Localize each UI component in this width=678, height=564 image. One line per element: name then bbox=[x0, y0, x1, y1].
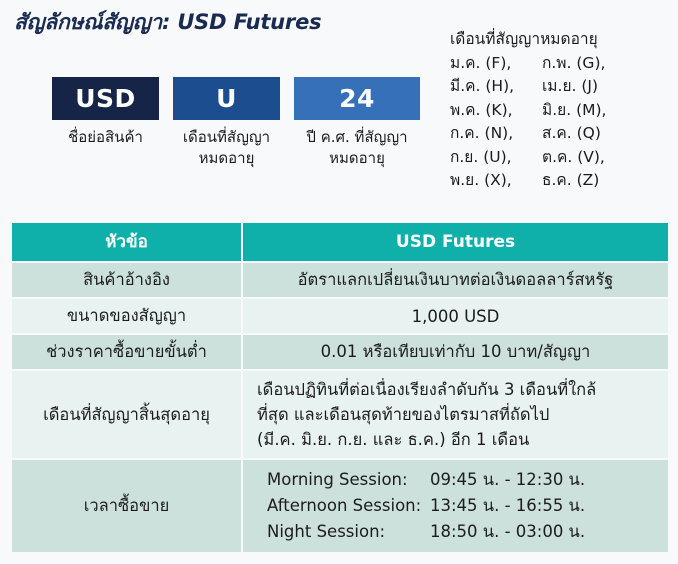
session-time-morning: 09:45 น. - 12:30 น. bbox=[430, 467, 585, 493]
month-code-entry: ก.ย. (U), bbox=[450, 146, 542, 170]
expiry-months-line: (มี.ค. มิ.ย. ก.ย. และ ธ.ค.) อีก 1 เดือน bbox=[257, 427, 658, 452]
month-code-entry: เม.ย. (J) bbox=[542, 75, 675, 99]
month-code-entry: ก.พ. (G), bbox=[542, 52, 675, 76]
row-value-tick-size: 0.01 หรือเทียบเท่ากับ 10 บาท/สัญญา bbox=[243, 335, 668, 369]
expiry-months-line: เดือนปฏิทินที่ต่อเนื่องเรียงลำดับกัน 3 เ… bbox=[257, 377, 658, 402]
trading-session-row: Afternoon Session: 13:45 น. - 16:55 น. bbox=[267, 493, 658, 519]
month-code-entry: พ.ย. (X), bbox=[450, 169, 542, 193]
symbol-breakdown: USD U 24 ชื่อย่อสินค้า เดือนที่สัญญาหมดอ… bbox=[52, 77, 440, 169]
symbol-badge-row: USD U 24 bbox=[52, 77, 440, 120]
table-row: เวลาซื้อขาย Morning Session: 09:45 น. - … bbox=[12, 460, 668, 552]
page-title: สัญลักษณ์สัญญา: USD Futures bbox=[14, 6, 321, 39]
row-value-underlying: อัตราแลกเปลี่ยนเงินบาทต่อเงินดอลลาร์สหรั… bbox=[243, 263, 668, 297]
table-row: ช่วงราคาซื้อขายขั้นต่ำ 0.01 หรือเทียบเท่… bbox=[12, 335, 668, 369]
table-row: ขนาดของสัญญา 1,000 USD bbox=[12, 299, 668, 333]
month-code-entry: ม.ค. (F), bbox=[450, 52, 542, 76]
month-code-entry: ก.ค. (N), bbox=[450, 122, 542, 146]
session-name-night: Night Session: bbox=[267, 519, 430, 545]
row-label-tick-size: ช่วงราคาซื้อขายขั้นต่ำ bbox=[12, 335, 241, 369]
session-name-afternoon: Afternoon Session: bbox=[267, 493, 430, 519]
table-header-row: หัวข้อ USD Futures bbox=[12, 223, 668, 261]
expiry-months-line: ที่สุด และเดือนสุดท้ายของไตรมาสที่ถัดไป bbox=[257, 402, 658, 427]
month-code-entry: ธ.ค. (Z) bbox=[542, 169, 675, 193]
specification-table: หัวข้อ USD Futures สินค้าอ้างอิง อัตราแล… bbox=[10, 221, 670, 554]
row-label-underlying: สินค้าอ้างอิง bbox=[12, 263, 241, 297]
month-code-entry: มิ.ย. (M), bbox=[542, 99, 675, 123]
trading-session-row: Morning Session: 09:45 น. - 12:30 น. bbox=[267, 467, 658, 493]
symbol-badge-expiry-month: U bbox=[173, 77, 280, 120]
symbol-caption-row: ชื่อย่อสินค้า เดือนที่สัญญาหมดอายุ ปี ค.… bbox=[52, 127, 440, 169]
month-code-entry: มี.ค. (H), bbox=[450, 75, 542, 99]
symbol-badge-expiry-year: 24 bbox=[294, 77, 420, 120]
row-label-expiry-months: เดือนที่สัญญาสิ้นสุดอายุ bbox=[12, 371, 241, 458]
symbol-caption-product-code: ชื่อย่อสินค้า bbox=[52, 127, 159, 169]
table-header-value: USD Futures bbox=[243, 223, 668, 261]
table-row: เดือนที่สัญญาสิ้นสุดอายุ เดือนปฏิทินที่ต… bbox=[12, 371, 668, 458]
month-code-entry: พ.ค. (K), bbox=[450, 99, 542, 123]
month-code-entry: ส.ค. (Q) bbox=[542, 122, 675, 146]
month-code-legend-grid: ม.ค. (F), ก.พ. (G), มี.ค. (H), เม.ย. (J)… bbox=[450, 52, 675, 193]
symbol-caption-expiry-month: เดือนที่สัญญาหมดอายุ bbox=[173, 127, 280, 169]
symbol-badge-product-code: USD bbox=[52, 77, 159, 120]
row-label-trading-hours: เวลาซื้อขาย bbox=[12, 460, 241, 552]
table-header-label: หัวข้อ bbox=[12, 223, 241, 261]
trading-session-row: Night Session: 18:50 น. - 03:00 น. bbox=[267, 519, 658, 545]
row-label-contract-size: ขนาดของสัญญา bbox=[12, 299, 241, 333]
row-value-expiry-months: เดือนปฏิทินที่ต่อเนื่องเรียงลำดับกัน 3 เ… bbox=[243, 371, 668, 458]
table-row: สินค้าอ้างอิง อัตราแลกเปลี่ยนเงินบาทต่อเ… bbox=[12, 263, 668, 297]
row-value-contract-size: 1,000 USD bbox=[243, 299, 668, 333]
month-code-legend: เดือนที่สัญญาหมดอายุ ม.ค. (F), ก.พ. (G),… bbox=[450, 28, 675, 193]
session-time-afternoon: 13:45 น. - 16:55 น. bbox=[430, 493, 585, 519]
row-value-trading-hours: Morning Session: 09:45 น. - 12:30 น. Aft… bbox=[243, 460, 668, 552]
session-name-morning: Morning Session: bbox=[267, 467, 430, 493]
symbol-caption-expiry-year: ปี ค.ศ. ที่สัญญาหมดอายุ bbox=[294, 127, 420, 169]
contract-specification-page: สัญลักษณ์สัญญา: USD Futures เดือนที่สัญญ… bbox=[0, 0, 678, 564]
month-code-legend-title: เดือนที่สัญญาหมดอายุ bbox=[450, 28, 675, 52]
session-time-night: 18:50 น. - 03:00 น. bbox=[430, 519, 585, 545]
month-code-entry: ต.ค. (V), bbox=[542, 146, 675, 170]
